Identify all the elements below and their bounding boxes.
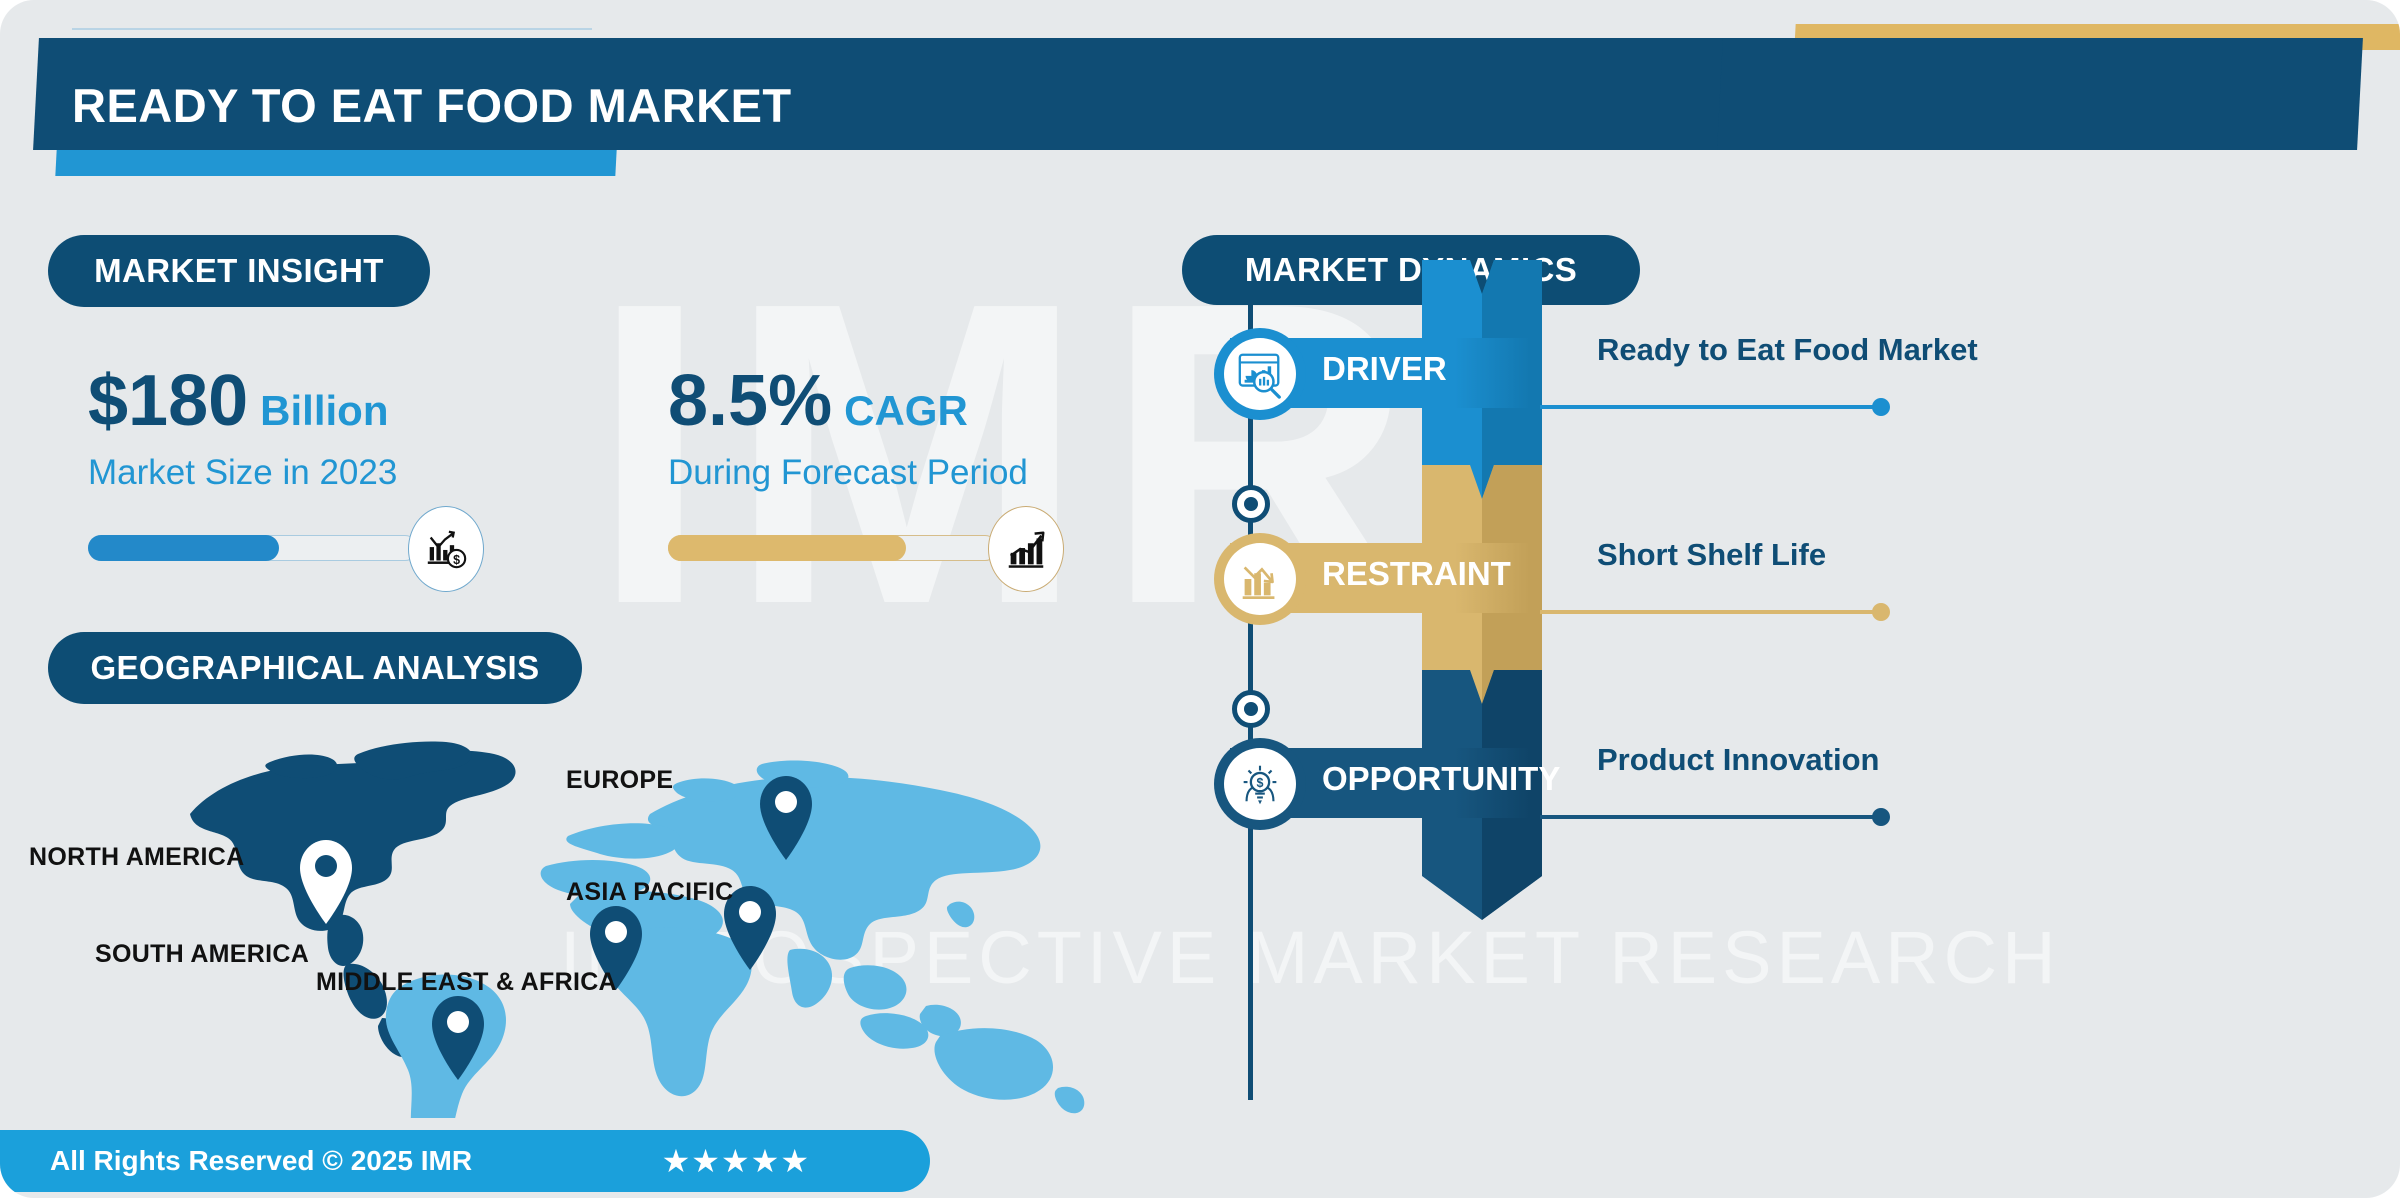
map-label-south-america: SOUTH AMERICA [95, 940, 309, 969]
svg-text:$: $ [1257, 776, 1264, 790]
stat-caption: Market Size in 2023 [88, 453, 397, 493]
infographic-canvas: IMR INTROSPECTIVE MARKET RESEARCH READY … [0, 0, 2400, 1198]
header-hairline [72, 28, 592, 30]
callout-text: Ready to Eat Food Market [1597, 332, 1978, 368]
growth-arrow-chart-icon [988, 506, 1064, 592]
stat-value: 8.5% [668, 365, 832, 437]
callout-line [1540, 815, 1880, 819]
stat-unit: Billion [260, 387, 388, 435]
header-accent-underbar [55, 150, 616, 176]
row-label: RESTRAINT [1322, 555, 1511, 593]
bar-chart-dollar-icon: $ [408, 506, 484, 592]
stat-market-size: $180Billion Market Size in 2023 [88, 365, 397, 493]
row-label: OPPORTUNITY [1322, 760, 1560, 798]
callout-dot [1872, 398, 1890, 416]
stat-value: $180 [88, 365, 248, 437]
market-dynamics-timeline: DRIVER Ready to Eat Food Market [1182, 300, 2400, 1198]
stat-unit: CAGR [844, 387, 968, 435]
callout-line [1540, 610, 1880, 614]
world-map: NORTH AMERICA EUROPE ASIA PACIFIC SOUTH … [150, 718, 1160, 1118]
footer-rating-stars: ★★★★★ [662, 1142, 810, 1180]
stat-cagr: 8.5%CAGR During Forecast Period [668, 365, 1028, 493]
callout-line [1540, 405, 1880, 409]
svg-text:$: $ [453, 553, 460, 567]
callout-dot [1872, 808, 1890, 826]
header-bar-right [1717, 38, 2363, 150]
section-pill-market-insight: MARKET INSIGHT [48, 235, 430, 307]
callout-text: Short Shelf Life [1597, 537, 1826, 573]
progress-market-size: $ [88, 528, 418, 570]
callout-dot [1872, 603, 1890, 621]
dashboard-magnifier-icon [1224, 338, 1296, 410]
map-label-europe: EUROPE [566, 766, 673, 795]
map-label-middle-east-africa: MIDDLE EAST & AFRICA [316, 968, 617, 997]
footer-copyright: All Rights Reserved © 2025 IMR [50, 1145, 472, 1177]
map-label-north-america: NORTH AMERICA [29, 843, 244, 872]
section-pill-geographical-analysis: GEOGRAPHICAL ANALYSIS [48, 632, 582, 704]
footer-bar: All Rights Reserved © 2025 IMR ★★★★★ [0, 1130, 930, 1192]
dynamics-row-opportunity[interactable]: $ OPPORTUNITY Product Innovation [1182, 670, 2400, 920]
map-label-asia-pacific: ASIA PACIFIC [566, 878, 734, 907]
page-title: READY TO EAT FOOD MARKET [72, 78, 792, 133]
progress-cagr [668, 528, 998, 570]
row-label: DRIVER [1322, 350, 1447, 388]
stat-caption: During Forecast Period [668, 453, 1028, 493]
progress-fill [668, 535, 906, 561]
progress-fill [88, 535, 279, 561]
callout-text: Product Innovation [1597, 742, 1879, 778]
lightbulb-dollar-icon: $ [1224, 748, 1296, 820]
declining-bar-chart-icon [1224, 543, 1296, 615]
